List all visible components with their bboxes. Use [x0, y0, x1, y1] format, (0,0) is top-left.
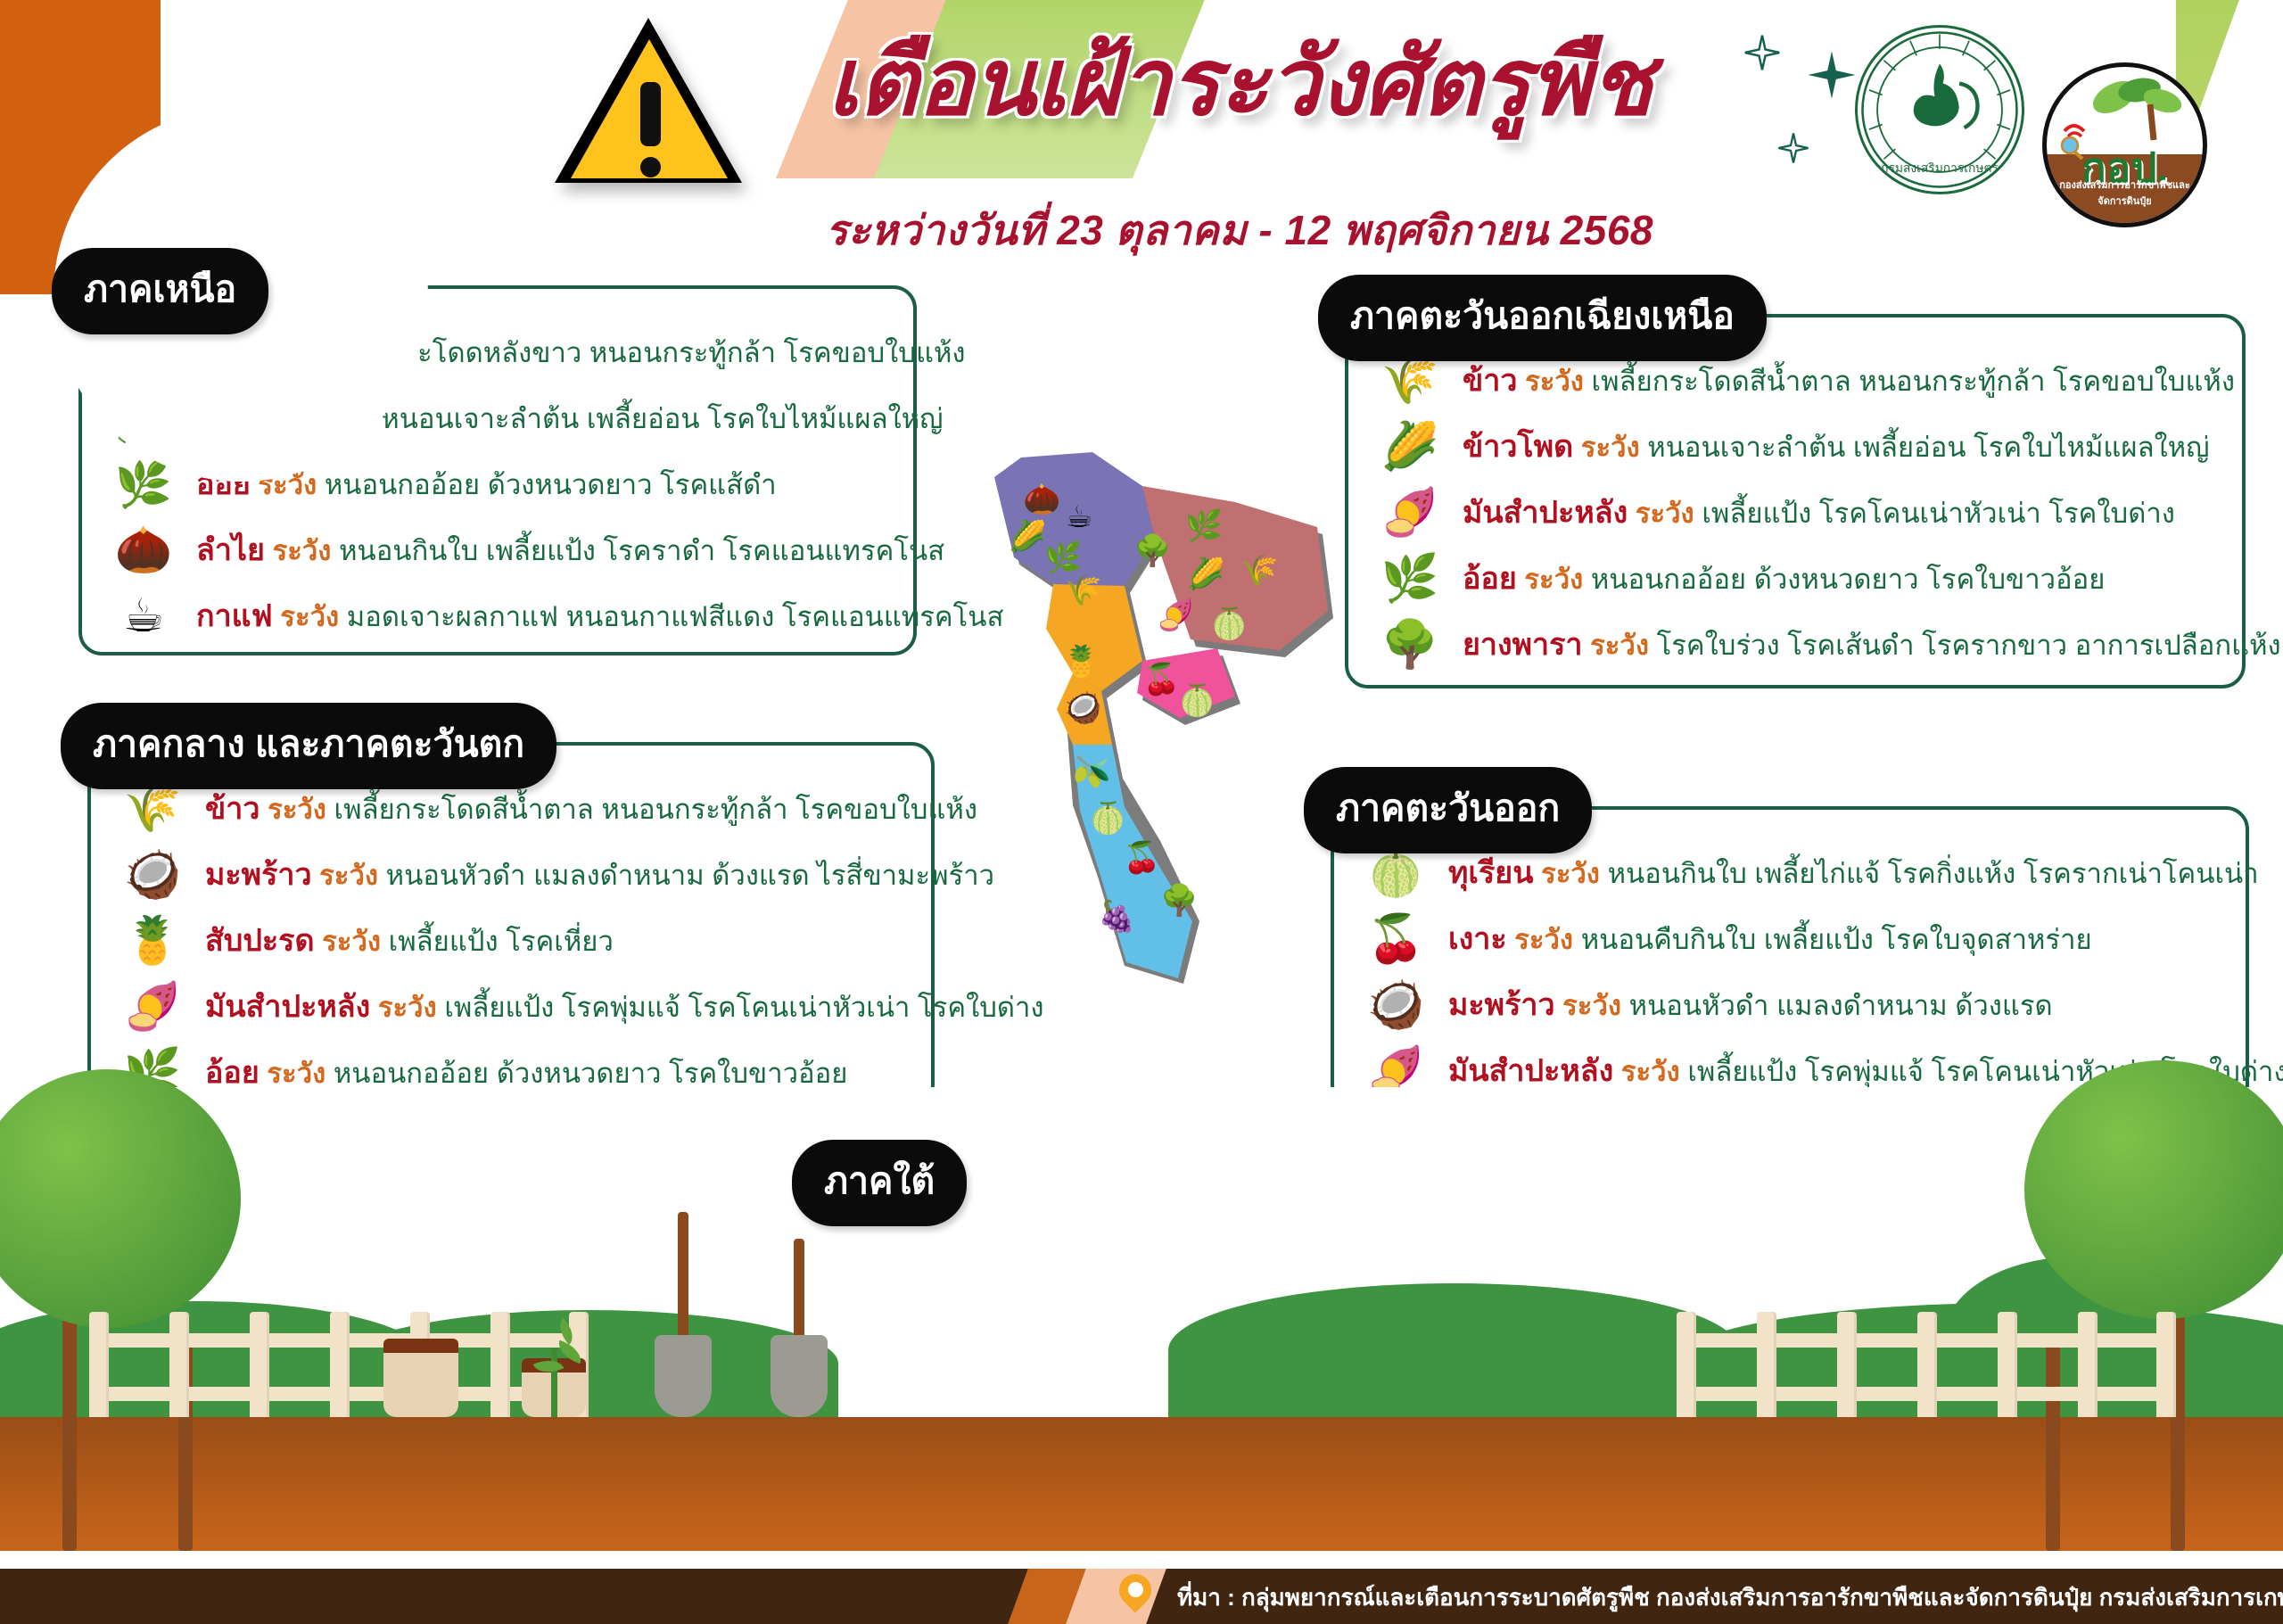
crop-row: ☕ กาแฟ ระวัง มอดเจาะผลกาแฟ หนอนกาแฟสีแดง… — [105, 583, 890, 649]
watch-label: ระวัง — [258, 469, 317, 500]
tree-trunk — [62, 1283, 77, 1551]
clay-pot — [383, 1339, 458, 1417]
map-crop-longan: 🌰 — [1023, 482, 1060, 516]
warning-exclamation-dot — [640, 157, 661, 177]
cassava-icon: 🍠 — [1372, 480, 1448, 546]
poster-frame: เตือนเฝ้าระวังศัตรูพืช ระหว่างวันที่ 23 … — [0, 0, 2283, 1624]
seedling-pot — [522, 1358, 586, 1417]
corn-icon: 🌽 — [105, 385, 182, 451]
crop-row: 🌰 ลำไย ระวัง หนอนกินใบ เพลี้ยแป้ง โรคราด… — [105, 517, 890, 583]
crop-name: เงาะ — [936, 1295, 995, 1329]
watch-label: ระวัง — [1581, 432, 1640, 463]
picket-fence — [89, 1310, 589, 1417]
crop-name: ข้าวโพด — [1463, 430, 1573, 464]
crop-row: 🫧 ปาล์มน้ำมัน ระวัง ด้วงกุหลาบ โรคทะลายเ… — [845, 1411, 1710, 1477]
pest-list: เพลี้ยแป้ง โรคโคนเน่าหัวเน่า โรคใบด่าง — [1702, 498, 2175, 529]
map-crop-rubber: 🌳 — [1133, 532, 1171, 568]
map-crop-coffee: ☕ — [1066, 500, 1092, 534]
pest-list: หนอนกินใบ เพลี้ยไก่แจ้ โรคกิ่งแห้ง โรครา… — [1608, 858, 2259, 889]
cassava-icon: 🍠 — [114, 974, 191, 1040]
crop-name: มันสำปะหลัง — [1463, 496, 1628, 530]
source-text: ที่มา : กลุ่มพยากรณ์และเตือนการระบาดศัตร… — [1177, 1579, 2283, 1616]
crop-name: มะพร้าว — [1448, 988, 1555, 1022]
crop-row: 🍈 ทุเรียน ระวัง หนอนกินใบ เพลี้ยไก่แจ้ โ… — [845, 1213, 1710, 1279]
crop-row: 🍠 มันสำปะหลัง ระวัง เพลี้ยแป้ง โรคพุ่มแจ… — [1357, 1038, 2222, 1104]
watch-label: ระวัง — [1541, 858, 1600, 889]
kop-logo: กอป. กองส่งเสริมการอารักขาพืชและจัดการดิ… — [2042, 62, 2207, 227]
sprout-leaf — [553, 1318, 580, 1345]
hill — [1677, 1303, 2283, 1417]
crop-row: 🥥 มะพร้าว ระวัง หนอนหัวดำ แมลงดำหนาม ด้ว… — [1357, 972, 2222, 1038]
crop-name: ข้าว — [1463, 364, 1517, 398]
coconut-icon: 🥥 — [1357, 972, 1434, 1038]
crop-row: 🌿 อ้อย ระวัง หนอนกออ้อย ด้วงหนวดยาว โรคแ… — [105, 451, 890, 517]
pest-list: หนอนหัวดำ แมลงดำหนาม ด้วงแรด ไรสี่ขามะพร… — [386, 860, 994, 891]
fence-rail — [1677, 1333, 2176, 1348]
pest-list: โรคใบร่วงชนิดใหม่ในยางพารา โรคเส้นดำ โรค… — [1131, 1495, 1789, 1526]
pest-list: หนอนกออ้อย ด้วงหนวดยาว โรคแส้ดำ — [325, 469, 777, 500]
crop-row: 🌽 ข้าวโพด ระวัง หนอนเจาะลำต้น เพลี้ยอ่อน… — [105, 385, 890, 451]
watch-label: ระวัง — [259, 337, 317, 368]
crop-row: 🍠 มันสำปะหลัง ระวัง เพลี้ยแป้ง โรคโคนเน่… — [1372, 480, 2219, 546]
sparkle-icon — [1777, 132, 1809, 164]
sprout-leaf — [533, 1354, 565, 1380]
region-badge-north: ภาคเหนือ — [52, 248, 268, 334]
pest-list: หนอนกออ้อย ด้วงหนวดยาว โรคใบขาวอ้อย — [334, 1058, 848, 1089]
watch-label: ระวัง — [315, 403, 374, 434]
map-crop-coconut: 🥥 — [1064, 690, 1101, 725]
shovel-handle — [794, 1239, 804, 1417]
map-crop-rice: 🌾 — [1064, 573, 1101, 607]
region-rows-northeast: 🌾 ข้าว ระวัง เพลี้ยกระโดดสีน้ำตาล หนอนกร… — [1348, 317, 2242, 685]
pest-list: โรคใบร่วง โรคเส้นดำ โรครากขาว อาการเปลือ… — [1657, 630, 2281, 661]
sugarcane-icon: 🌿 — [105, 451, 182, 517]
crop-row: 🍍 สับปะรด ระวัง เพลี้ยแป้ง โรคเหี่ยว — [114, 908, 908, 974]
watch-label: ระวัง — [1002, 1297, 1061, 1328]
watch-label: ระวัง — [1098, 1429, 1157, 1460]
crop-row: 🌳 ยางพารา ระวัง โรคใบร่วง โรคเส้นดำ โรคร… — [1372, 612, 2219, 678]
rubber-tree-icon: 🌳 — [845, 1477, 922, 1543]
region-badge-northeast: ภาคตะวันออกเฉียงเหนือ — [1318, 275, 1767, 361]
longan-icon: 🌰 — [105, 517, 182, 583]
pest-list: หนอนคืบกินใบ เพลี้ยแป้ง โรคใบจุดสาหร่าย — [1069, 1297, 1580, 1328]
watch-label: ระวัง — [280, 601, 339, 632]
poster-canvas: เตือนเฝ้าระวังศัตรูพืช ระหว่างวันที่ 23 … — [0, 0, 2283, 1587]
crop-row: 🌿 อ้อย ระวัง หนอนกออ้อย ด้วงหนวดยาว โรคใ… — [1372, 546, 2219, 612]
watch-label: ระวัง — [322, 926, 381, 957]
crop-name: ข้าว — [196, 335, 251, 369]
crop-name: มะพร้าว — [936, 1361, 1043, 1395]
sparkle-icon — [1743, 34, 1781, 71]
crop-name: ยางพารา — [936, 1493, 1056, 1527]
map-pin-icon — [1119, 1574, 1151, 1619]
coffee-icon: ☕ — [105, 583, 182, 649]
crop-name: ลำไย — [196, 533, 265, 567]
map-crop-corn: 🌽 — [1009, 518, 1046, 554]
watch-label: ระวัง — [1051, 1363, 1109, 1394]
watch-label: ระวัง — [273, 535, 332, 566]
sugarcane-icon: 🌿 — [114, 1040, 191, 1106]
svg-text:กรมส่งเสริมการเกษตร: กรมส่งเสริมการเกษตร — [1881, 161, 1999, 175]
map-crop-rubber: 🌳 — [1160, 882, 1198, 918]
crop-name: ยางพารา — [1463, 628, 1582, 662]
sugarcane-icon: 🌿 — [1372, 546, 1448, 612]
fence-rail — [89, 1333, 589, 1348]
warning-exclamation-bar — [640, 82, 661, 146]
region-badge-central-west: ภาคกลาง และภาคตะวันตก — [61, 703, 556, 789]
map-crop-corn: 🌽 — [1187, 556, 1224, 591]
crop-name: มันสำปะหลัง — [1448, 1054, 1613, 1088]
pest-list: หนอนกินใบ เพลี้ยไก่แจ้ โรคกิ่งแห้ง โรครา… — [1096, 1231, 1747, 1262]
crop-name: กาแฟ — [196, 599, 273, 633]
crop-name: ข้าวโพด — [196, 401, 307, 435]
region-rows-north: 🌾 ข้าว ระวัง เพลี้ยกระโดดหลังขาว หนอนกระ… — [82, 289, 913, 652]
pest-list: ด้วงกุหลาบ โรคทะลายเน่า โรคลำต้นเน่า — [1164, 1429, 1646, 1460]
region-card-central-west: 🌾 ข้าว ระวัง เพลี้ยกระโดดสีน้ำตาล หนอนกร… — [87, 742, 935, 1108]
map-crop-rice: 🌾 — [1240, 554, 1278, 588]
rambutan-icon: 🍒 — [1357, 906, 1434, 972]
oil-palm-icon: 🫧 — [845, 1411, 922, 1477]
crop-row: 🍠 มันสำปะหลัง ระวัง เพลี้ยแป้ง โรคพุ่มแจ… — [114, 974, 908, 1040]
map-crop-durian: 🍈 — [1089, 800, 1126, 836]
kop-logo-sublabel: กองส่งเสริมการอารักขาพืชและจัดการดินปุ๋ย — [2047, 177, 2203, 209]
map-crop-mangosteen: 🍇 — [1098, 899, 1135, 935]
sprout-stem — [551, 1348, 557, 1417]
pest-list: แมลงดำหนาม ด้วงแรด โรคใบจุดสีเทา — [1117, 1363, 1575, 1394]
watch-label: ระวัง — [319, 860, 378, 891]
region-card-north: 🌾 ข้าว ระวัง เพลี้ยกระโดดหลังขาว หนอนกระ… — [78, 285, 917, 655]
pest-list: หนอนกออ้อย ด้วงหนวดยาว โรคใบขาวอ้อย — [1591, 564, 2106, 595]
watch-label: ระวัง — [1590, 630, 1649, 661]
map-crop-sugarcane: 🌿 — [1044, 540, 1082, 575]
coconut-icon: 🥥 — [114, 842, 191, 908]
watch-label: ระวัง — [1524, 564, 1583, 595]
map-crop-pineapple: 🍍 — [1062, 644, 1100, 679]
watch-label: ระวัง — [1029, 1231, 1088, 1262]
crop-name: อ้อย — [196, 467, 251, 501]
watch-label: ระวัง — [1621, 1056, 1680, 1087]
map-crop-sugarcane: 🌿 — [1185, 508, 1223, 543]
hill — [0, 1301, 428, 1417]
footer-bar: ที่มา : กลุ่มพยากรณ์และเตือนการระบาดศัตร… — [0, 1569, 2283, 1624]
tree-trunk — [2046, 1346, 2060, 1551]
pest-list: เพลี้ยกระโดดสีน้ำตาล หนอนกระทู้กล้า โรคข… — [1592, 366, 2235, 397]
rambutan-icon: 🍒 — [845, 1279, 922, 1345]
map-crop-cassava: 🍠 — [1157, 598, 1194, 632]
rubber-tree-icon: 🌳 — [1372, 612, 1448, 678]
fence-rail — [89, 1387, 589, 1401]
crop-row: 🌳 ยางพารา ระวัง โรคใบร่วงชนิดใหม่ในยางพา… — [845, 1477, 1710, 1543]
cassava-icon: 🍠 — [1357, 1038, 1434, 1104]
crop-name: มันสำปะหลัง — [205, 990, 370, 1024]
pest-list: เพลี้ยกระโดดสีน้ำตาล หนอนกระทู้กล้า โรคข… — [334, 794, 977, 825]
crop-row: 🍒 เงาะ ระวัง หนอนคืบกินใบ เพลี้ยแป้ง โรค… — [845, 1279, 1710, 1345]
watch-label: ระวัง — [267, 1058, 326, 1089]
department-seal-logo: กรมส่งเสริมการเกษตร — [1855, 25, 2024, 194]
pest-list: หนอนเจาะลำต้น เพลี้ยอ่อน โรคใบไหม้แผลใหญ… — [381, 403, 943, 434]
shovel-blade — [655, 1335, 712, 1417]
crop-row: 🌽 ข้าวโพด ระวัง หนอนเจาะลำต้น เพลี้ยอ่อน… — [1372, 414, 2219, 480]
watch-label: ระวัง — [1636, 498, 1694, 529]
pest-list: เพลี้ยกระโดดหลังขาว หนอนกระทู้กล้า โรคขอ… — [326, 337, 966, 368]
pest-list: เพลี้ยแป้ง โรคพุ่มแจ้ โรคโคนเน่าหัวเน่า … — [1687, 1056, 2283, 1087]
pest-list: หนอนคืบกินใบ เพลี้ยแป้ง โรคใบจุดสาหร่าย — [1581, 924, 2092, 955]
crop-name: อ้อย — [205, 1056, 260, 1090]
crop-row: 🍒 เงาะ ระวัง หนอนคืบกินใบ เพลี้ยแป้ง โรค… — [1357, 906, 2222, 972]
tree-trunk — [2171, 1274, 2185, 1551]
crop-name: ทุเรียน — [1448, 856, 1533, 890]
shovel-handle — [678, 1212, 688, 1417]
pineapple-icon: 🍍 — [114, 908, 191, 974]
map-crop-rambutan: 🍒 — [1142, 662, 1180, 697]
region-card-south: 🍈 ทุเรียน ระวัง หนอนกินใบ เพลี้ยไก่แจ้ โ… — [819, 1179, 1737, 1536]
crop-name: มะพร้าว — [205, 858, 312, 892]
corn-icon: 🌽 — [1372, 414, 1448, 480]
region-card-northeast: 🌾 ข้าว ระวัง เพลี้ยกระโดดสีน้ำตาล หนอนกร… — [1345, 314, 2246, 688]
hill — [1944, 1257, 2212, 1417]
pest-list: หนอนกินใบ เพลี้ยแป้ง โรคราดำ โรคแอนแทรคโ… — [339, 535, 944, 566]
crop-row: 🌿 อ้อย ระวัง หนอนกออ้อย ด้วงหนวดยาว โรคใ… — [114, 1040, 908, 1106]
map-crop-durian: 🍈 — [1178, 682, 1216, 718]
crop-name: ปาล์มน้ำมัน — [936, 1427, 1090, 1461]
crop-row: 🥥 มะพร้าว ระวัง หนอนหัวดำ แมลงดำหนาม ด้ว… — [114, 842, 908, 908]
crop-row: 🥥 มะพร้าว ระวัง แมลงดำหนาม ด้วงแรด โรคใบ… — [845, 1345, 1710, 1411]
watch-label: ระวัง — [1064, 1495, 1123, 1526]
map-crop-rambutan: 🍒 — [1123, 840, 1160, 876]
region-rows-east: 🍈 ทุเรียน ระวัง หนอนกินใบ เพลี้ยไก่แจ้ โ… — [1334, 810, 2246, 1104]
pest-list: เพลี้ยแป้ง โรคเหี่ยว — [389, 926, 614, 957]
region-rows-central-west: 🌾 ข้าว ระวัง เพลี้ยกระโดดสีน้ำตาล หนอนกร… — [91, 746, 931, 1104]
crop-name: ข้าว — [205, 792, 260, 826]
page-title: เตือนเฝ้าระวังศัตรูพืช — [767, 25, 1712, 141]
pest-list: หนอนหัวดำ แมลงดำหนาม ด้วงแรด — [1629, 990, 2053, 1021]
crop-name: อ้อย — [1463, 562, 1517, 596]
fence-rail — [1677, 1387, 2176, 1401]
crop-name: เงาะ — [1448, 922, 1507, 956]
map-crop-durian: 🍈 — [1210, 606, 1248, 641]
watch-label: ระวัง — [268, 794, 326, 825]
coconut-icon: 🥥 — [845, 1345, 922, 1411]
region-rows-south: 🍈 ทุเรียน ระวัง หนอนกินใบ เพลี้ยไก่แจ้ โ… — [822, 1183, 1734, 1532]
map-crop-oilpalm: 🫒 — [1073, 754, 1110, 789]
crop-name: สับปะรด — [205, 924, 315, 958]
thailand-region-map: 🌰 🌽 ☕ 🌿 🌾 🌿 🌳 🌽 🌾 🍠 🍈 🍍 🥥 🍒 🍈 🫒 — [968, 450, 1342, 994]
picket-fence — [1677, 1310, 2176, 1417]
pest-list: มอดเจาะผลกาแฟ หนอนกาแฟสีแดง โรคแอนแทรคโน… — [347, 601, 1004, 632]
region-badge-south: ภาคใต้ — [792, 1140, 967, 1226]
watch-label: ระวัง — [1562, 990, 1621, 1021]
pest-list: เพลี้ยแป้ง โรคพุ่มแจ้ โรคโคนเน่าหัวเน่า … — [444, 992, 1043, 1023]
pest-list: หนอนเจาะลำต้น เพลี้ยอ่อน โรคใบไหม้แผลใหญ… — [1647, 432, 2209, 463]
region-badge-east: ภาคตะวันออก — [1304, 767, 1592, 853]
watch-label: ระวัง — [1525, 366, 1584, 397]
sprout-leaf — [555, 1340, 585, 1364]
watch-label: ระวัง — [378, 992, 437, 1023]
tree-trunk — [178, 1346, 193, 1551]
sparkle-icon — [1806, 49, 1858, 101]
date-range: ระหว่างวันที่ 23 ตุลาคม - 12 พฤศจิกายน 2… — [749, 198, 1730, 263]
tree-crown — [0, 1069, 241, 1328]
crop-name: ทุเรียน — [936, 1229, 1021, 1263]
hill — [339, 1310, 838, 1417]
watch-label: ระวัง — [1514, 924, 1573, 955]
